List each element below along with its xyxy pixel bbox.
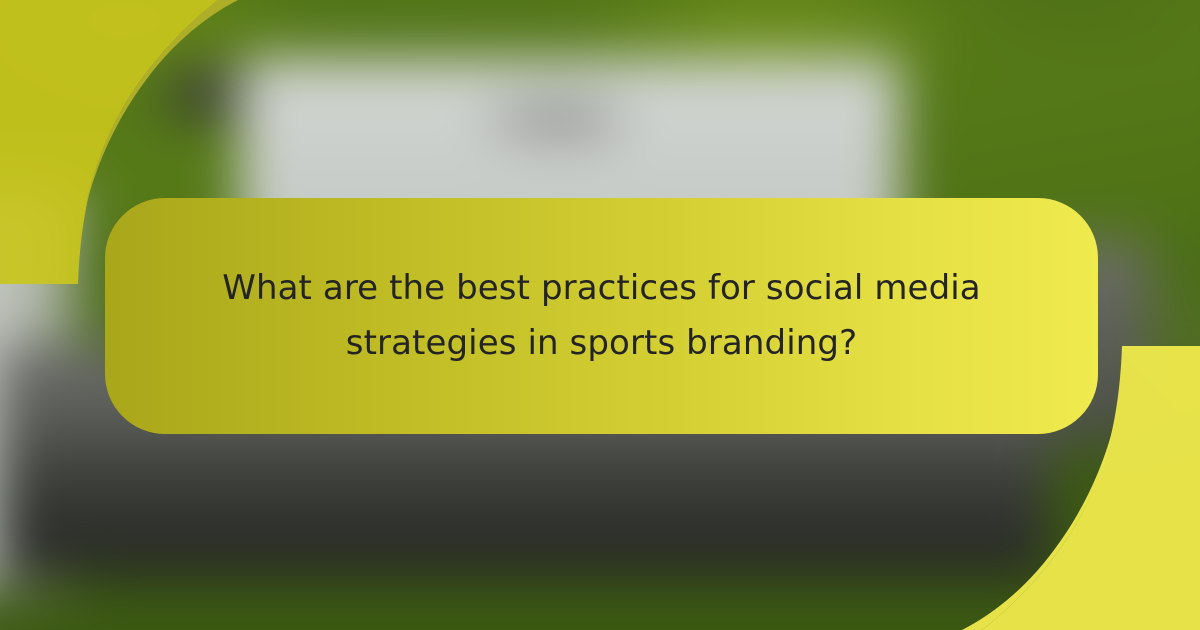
question-text: What are the best practices for social m… — [212, 261, 992, 371]
question-card: What are the best practices for social m… — [105, 198, 1098, 434]
social-card-canvas: What are the best practices for social m… — [0, 0, 1200, 630]
paper-typed-text — [488, 102, 618, 136]
typewriter-carriage-arm — [168, 70, 240, 116]
